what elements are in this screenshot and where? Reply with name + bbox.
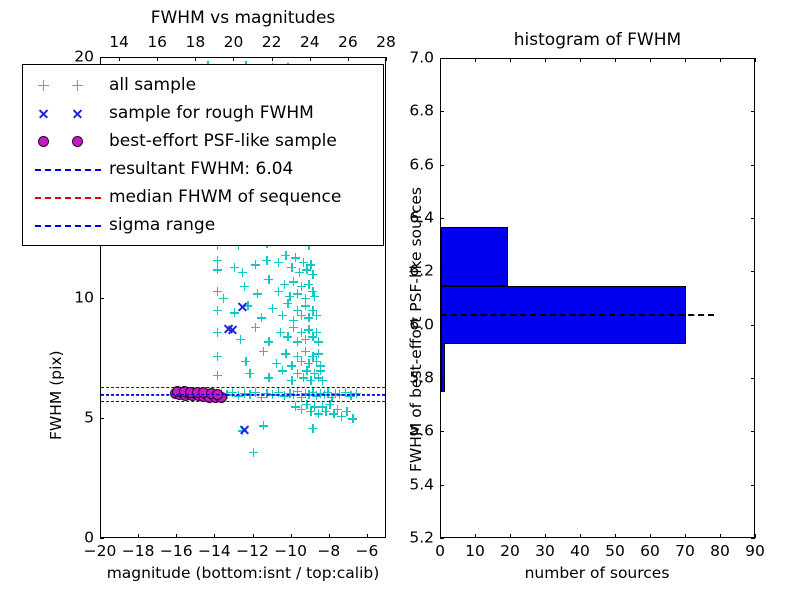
- scatter-point-plus: [314, 409, 323, 418]
- scatter-point-plus: [297, 405, 306, 414]
- x-tick: [329, 534, 330, 538]
- y-tick-right: [751, 218, 755, 219]
- scatter-point-plus: [241, 357, 250, 366]
- scatter-point-plus: [287, 376, 296, 385]
- scatter-point-plus: [329, 409, 338, 418]
- top-x-tick: [475, 58, 476, 62]
- scatter-point-plus: [251, 260, 260, 269]
- top-x-tick: [510, 58, 511, 62]
- scatter-point-plus: [333, 405, 342, 414]
- x-tick-label: 30: [535, 544, 555, 560]
- y-tick: [440, 111, 444, 112]
- x-tick-label: −18: [122, 544, 155, 560]
- top-x-tick-label: 24: [300, 35, 320, 51]
- y-tick: [100, 418, 104, 419]
- scatter-point-plus: [308, 270, 317, 279]
- y-tick-label: 20: [66, 49, 94, 65]
- scatter-point-plus: [287, 263, 296, 272]
- legend-item-3[interactable]: resultant FWHM: 6.04: [31, 155, 373, 183]
- scatter-point-plus: [268, 304, 277, 313]
- top-x-tick: [720, 58, 721, 62]
- y-tick-label: 10: [66, 290, 94, 306]
- scatter-point-plus: [310, 369, 319, 378]
- histogram-bar: [441, 227, 508, 286]
- y-tick-right: [751, 431, 755, 432]
- top-x-tick: [386, 57, 387, 61]
- y-tick: [440, 218, 444, 219]
- right-xaxis-label: number of sources: [525, 565, 670, 581]
- right-plot-title: histogram of FWHM: [440, 32, 755, 49]
- y-tick-right: [751, 325, 755, 326]
- scatter-point-plus: [238, 426, 247, 435]
- scatter-point-plus: [304, 313, 313, 322]
- y-tick-label: 6.8: [392, 104, 434, 120]
- legend-marker-circle: [72, 136, 83, 147]
- scatter-point-plus: [245, 369, 254, 378]
- scatter-point-plus: [310, 292, 319, 301]
- scatter-point-plus: [274, 287, 283, 296]
- y-tick-right: [751, 271, 755, 272]
- x-tick: [720, 534, 721, 538]
- scatter-point-plus: [302, 366, 311, 375]
- scatter-point-plus: [230, 308, 239, 317]
- top-x-tick: [310, 57, 311, 61]
- x-tick: [755, 534, 756, 538]
- scatter-point-plus: [291, 402, 300, 411]
- scatter-point-plus: [308, 287, 317, 296]
- hline-sigma-range-lower: [101, 401, 385, 402]
- legend[interactable]: all samplesample for rough FWHMbest-effo…: [22, 64, 384, 246]
- scatter-point-plus: [314, 373, 323, 382]
- scatter-point-plus: [283, 332, 292, 341]
- x-tick-label: −20: [84, 544, 117, 560]
- top-x-tick-label: 28: [376, 35, 396, 51]
- top-x-tick: [348, 57, 349, 61]
- scatter-point-plus: [348, 414, 357, 423]
- scatter-point-plus: [342, 407, 351, 416]
- scatter-point-plus: [316, 361, 325, 370]
- x-tick: [475, 534, 476, 538]
- legend-label: sample for rough FWHM: [109, 105, 314, 122]
- scatter-point-plus: [213, 352, 222, 361]
- scatter-point-plus: [289, 277, 298, 286]
- x-tick: [510, 534, 511, 538]
- scatter-point-plus: [312, 311, 321, 320]
- legend-key-2: [31, 129, 109, 153]
- legend-marker-cross: [38, 108, 49, 119]
- x-tick-label: 90: [745, 544, 765, 560]
- top-x-tick: [119, 57, 120, 61]
- x-tick-label: 70: [675, 544, 695, 560]
- scatter-point-plus: [278, 366, 287, 375]
- legend-label: best-effort PSF-like sample: [109, 133, 337, 150]
- scatter-point-plus: [304, 280, 313, 289]
- x-tick-label: −12: [236, 544, 269, 560]
- scatter-point-plus: [230, 263, 239, 272]
- x-tick-label: 80: [710, 544, 730, 560]
- scatter-point-plus: [318, 376, 327, 385]
- scatter-point-plus: [299, 258, 308, 267]
- top-x-tick: [233, 57, 234, 61]
- x-tick-label: 40: [570, 544, 590, 560]
- y-tick-label: 5: [66, 410, 94, 426]
- x-tick: [580, 534, 581, 538]
- legend-marker-plus: [72, 80, 83, 91]
- right-yaxis-label: FWHM of best-effort PSF-like sources: [408, 187, 424, 472]
- y-tick: [440, 165, 444, 166]
- scatter-point-plus: [213, 371, 222, 380]
- legend-item-1[interactable]: sample for rough FWHM: [31, 99, 373, 127]
- scatter-point-plus: [293, 369, 302, 378]
- scatter-point-plus: [213, 256, 222, 265]
- scatter-point-plus: [276, 328, 285, 337]
- top-x-tick: [440, 58, 441, 62]
- scatter-point-plus: [310, 402, 319, 411]
- y-tick: [440, 271, 444, 272]
- scatter-point-plus: [308, 306, 317, 315]
- scatter-point-plus: [299, 373, 308, 382]
- top-x-tick-label: 16: [147, 35, 167, 51]
- legend-marker-cross: [72, 108, 83, 119]
- legend-item-5[interactable]: sigma range: [31, 211, 373, 239]
- scatter-point-cross: [239, 424, 250, 435]
- top-x-tick: [545, 58, 546, 62]
- scatter-point-plus: [293, 337, 302, 346]
- top-x-tick-label: 14: [109, 35, 129, 51]
- y-tick-label: 5.4: [392, 477, 434, 493]
- x-tick: [214, 534, 215, 538]
- histogram-bars-layer: [441, 59, 754, 537]
- x-tick: [685, 534, 686, 538]
- legend-item-0[interactable]: all sample: [31, 71, 373, 99]
- top-x-tick: [650, 58, 651, 62]
- scatter-point-plus: [318, 402, 327, 411]
- scatter-point-plus: [312, 328, 321, 337]
- scatter-point-plus: [283, 299, 292, 308]
- legend-label: sigma range: [109, 217, 215, 234]
- y-tick: [100, 57, 104, 58]
- top-x-tick: [615, 58, 616, 62]
- figure-canvas: FWHM vs magnitudes 1416182022242628 −20−…: [0, 0, 800, 600]
- scatter-point-plus: [274, 258, 283, 267]
- top-x-tick-label: 20: [224, 35, 244, 51]
- scatter-point-plus: [312, 357, 321, 366]
- scatter-point-plus: [302, 265, 311, 274]
- scatter-point-plus: [301, 294, 310, 303]
- scatter-point-plus: [259, 347, 268, 356]
- histogram-of-fwhm-plot[interactable]: [440, 58, 755, 538]
- hline-median-fhwm-of-sequence: [101, 395, 385, 396]
- y-tick: [440, 485, 444, 486]
- y-tick: [100, 298, 104, 299]
- histogram-median-line: [441, 314, 714, 316]
- scatter-point-plus: [306, 260, 315, 269]
- y-tick: [440, 431, 444, 432]
- x-tick-label: −16: [160, 544, 193, 560]
- x-tick-label: −14: [198, 544, 231, 560]
- legend-key-1: [31, 101, 109, 125]
- scatter-point-plus: [240, 282, 249, 291]
- legend-item-2[interactable]: best-effort PSF-like sample: [31, 127, 373, 155]
- legend-line: [35, 225, 101, 227]
- scatter-point-plus: [297, 282, 306, 291]
- scatter-point-plus: [314, 349, 323, 358]
- scatter-point-plus: [308, 352, 317, 361]
- scatter-point-plus: [287, 361, 296, 370]
- scatter-point-plus: [219, 294, 228, 303]
- x-tick: [545, 534, 546, 538]
- y-tick: [100, 538, 104, 539]
- scatter-point-plus: [280, 280, 289, 289]
- scatter-point-plus: [308, 424, 317, 433]
- scatter-point-plus: [306, 407, 315, 416]
- scatter-point-plus: [213, 265, 222, 274]
- scatter-point-plus: [314, 337, 323, 346]
- scatter-point-plus: [321, 407, 330, 416]
- x-tick: [176, 534, 177, 538]
- x-tick-label: 60: [640, 544, 660, 560]
- scatter-point-plus: [301, 335, 310, 344]
- scatter-point-plus: [238, 268, 247, 277]
- scatter-point-plus: [262, 256, 271, 265]
- scatter-point-plus: [316, 366, 325, 375]
- y-tick: [440, 325, 444, 326]
- top-x-tick-label: 18: [185, 35, 205, 51]
- scatter-point-plus: [295, 268, 304, 277]
- y-tick-right: [751, 378, 755, 379]
- x-tick: [138, 534, 139, 538]
- y-tick-right: [751, 485, 755, 486]
- scatter-point-plus: [304, 359, 313, 368]
- y-tick: [440, 378, 444, 379]
- legend-line: [35, 197, 101, 199]
- scatter-point-plus: [257, 313, 266, 322]
- scatter-point-plus: [308, 332, 317, 341]
- top-x-tick: [580, 58, 581, 62]
- y-tick-label: 7.0: [392, 50, 434, 66]
- scatter-point-plus: [285, 292, 294, 301]
- y-tick-label: 6.6: [392, 157, 434, 173]
- scatter-point-plus: [293, 306, 302, 315]
- scatter-point-plus: [213, 306, 222, 315]
- scatter-point-plus: [251, 323, 260, 332]
- scatter-point-plus: [301, 301, 310, 310]
- legend-marker-circle: [38, 136, 49, 147]
- legend-label: resultant FWHM: 6.04: [109, 161, 293, 178]
- scatter-point-plus: [243, 301, 252, 310]
- scatter-point-plus: [259, 421, 268, 430]
- x-tick-label: −10: [274, 544, 307, 560]
- top-x-tick: [157, 57, 158, 61]
- y-tick-right: [751, 165, 755, 166]
- x-tick: [650, 534, 651, 538]
- scatter-point-cross: [237, 301, 248, 312]
- scatter-point-plus: [293, 352, 302, 361]
- legend-label: all sample: [109, 77, 196, 94]
- x-tick-label: 20: [500, 544, 520, 560]
- y-tick-label: 0: [66, 530, 94, 546]
- top-x-tick-label: 22: [262, 35, 282, 51]
- legend-key-0: [31, 73, 109, 97]
- legend-key-4: [31, 185, 109, 209]
- scatter-point-plus: [272, 359, 281, 368]
- top-x-tick: [195, 57, 196, 61]
- scatter-point-plus: [281, 349, 290, 358]
- scatter-point-cross: [227, 324, 238, 335]
- y-tick: [440, 538, 444, 539]
- scatter-point-plus: [304, 325, 313, 334]
- left-yaxis-label: FWHM (pix): [48, 350, 64, 440]
- legend-line: [35, 169, 101, 171]
- top-x-tick: [272, 57, 273, 61]
- legend-label: median FHWM of sequence: [109, 189, 341, 206]
- scatter-point-plus: [213, 328, 222, 337]
- scatter-point-plus: [291, 253, 300, 262]
- scatter-point-plus: [264, 275, 273, 284]
- y-tick-right: [751, 538, 755, 539]
- left-plot-title: FWHM vs magnitudes: [100, 10, 386, 27]
- scatter-point-plus: [289, 316, 298, 325]
- scatter-point-plus: [293, 289, 302, 298]
- scatter-point-plus: [264, 373, 273, 382]
- x-tick-label: −6: [355, 544, 378, 560]
- hline-sigma-range-upper: [101, 387, 385, 388]
- legend-key-3: [31, 157, 109, 181]
- scatter-point-plus: [253, 289, 262, 298]
- scatter-point-plus: [297, 328, 306, 337]
- scatter-point-plus: [213, 287, 222, 296]
- scatter-point-plus: [297, 311, 306, 320]
- scatter-point-plus: [289, 323, 298, 332]
- x-tick-label: 0: [435, 544, 445, 560]
- scatter-point-cross: [223, 323, 234, 334]
- left-xaxis-label: magnitude (bottom:isnt / top:calib): [107, 565, 380, 581]
- legend-item-4[interactable]: median FHWM of sequence: [31, 183, 373, 211]
- scatter-point-plus: [236, 335, 245, 344]
- scatter-point-plus: [306, 376, 315, 385]
- x-tick: [291, 534, 292, 538]
- top-x-tick: [755, 58, 756, 62]
- scatter-point-plus: [301, 347, 310, 356]
- legend-key-5: [31, 213, 109, 237]
- legend-marker-plus: [38, 80, 49, 91]
- top-x-tick-label: 26: [338, 35, 358, 51]
- x-tick: [253, 534, 254, 538]
- histogram-bar: [441, 344, 445, 392]
- y-tick-label: 5.2: [392, 530, 434, 546]
- scatter-point-plus: [249, 448, 258, 457]
- y-tick-right: [751, 111, 755, 112]
- scatter-point-plus: [278, 311, 287, 320]
- x-tick-label: 10: [465, 544, 485, 560]
- x-tick: [367, 534, 368, 538]
- scatter-point-plus: [264, 337, 273, 346]
- top-x-tick: [685, 58, 686, 62]
- scatter-point-plus: [297, 357, 306, 366]
- scatter-point-plus: [281, 251, 290, 260]
- x-tick: [615, 534, 616, 538]
- scatter-point-plus: [337, 412, 346, 421]
- x-tick-label: −8: [317, 544, 340, 560]
- x-tick-label: 50: [605, 544, 625, 560]
